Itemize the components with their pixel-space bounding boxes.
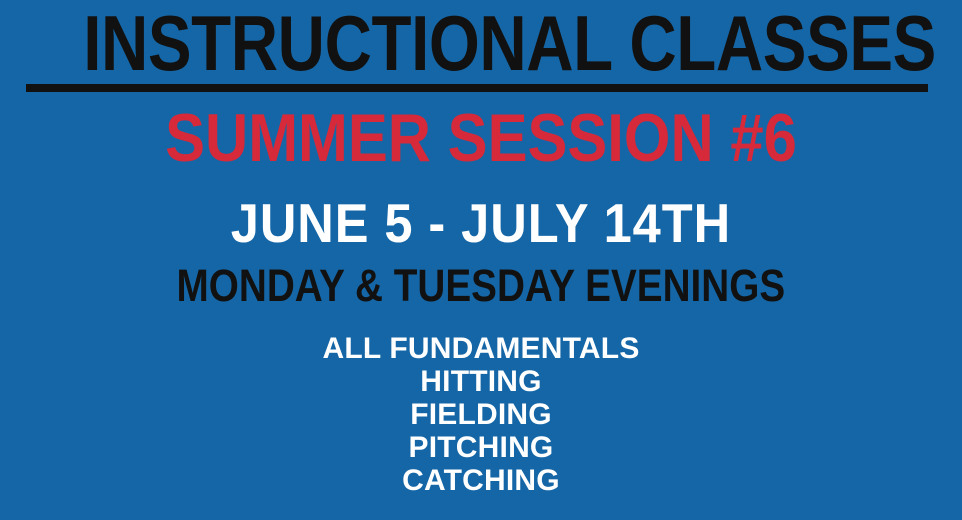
page-title: INSTRUCTIONAL CLASSES	[82, 6, 938, 80]
topics-list: ALL FUNDAMENTALS HITTING FIELDING PITCHI…	[0, 332, 962, 497]
list-item: FIELDING	[0, 398, 962, 431]
dates-container: JUNE 5 - JULY 14TH	[0, 196, 962, 251]
headline-underline-rule	[26, 84, 928, 92]
headline-container: INSTRUCTIONAL CLASSES	[0, 6, 962, 80]
instructional-classes-flyer: INSTRUCTIONAL CLASSES SUMMER SESSION #6 …	[0, 0, 962, 520]
list-item: PITCHING	[0, 431, 962, 464]
session-date-range: JUNE 5 - JULY 14TH	[231, 196, 731, 251]
subheadline-container: SUMMER SESSION #6	[0, 104, 962, 172]
days-container: MONDAY & TUESDAY EVENINGS	[0, 263, 962, 308]
list-item: CATCHING	[0, 464, 962, 497]
session-subtitle: SUMMER SESSION #6	[165, 104, 797, 172]
session-schedule-days: MONDAY & TUESDAY EVENINGS	[177, 263, 786, 308]
list-item: HITTING	[0, 365, 962, 398]
list-item: ALL FUNDAMENTALS	[0, 332, 962, 365]
